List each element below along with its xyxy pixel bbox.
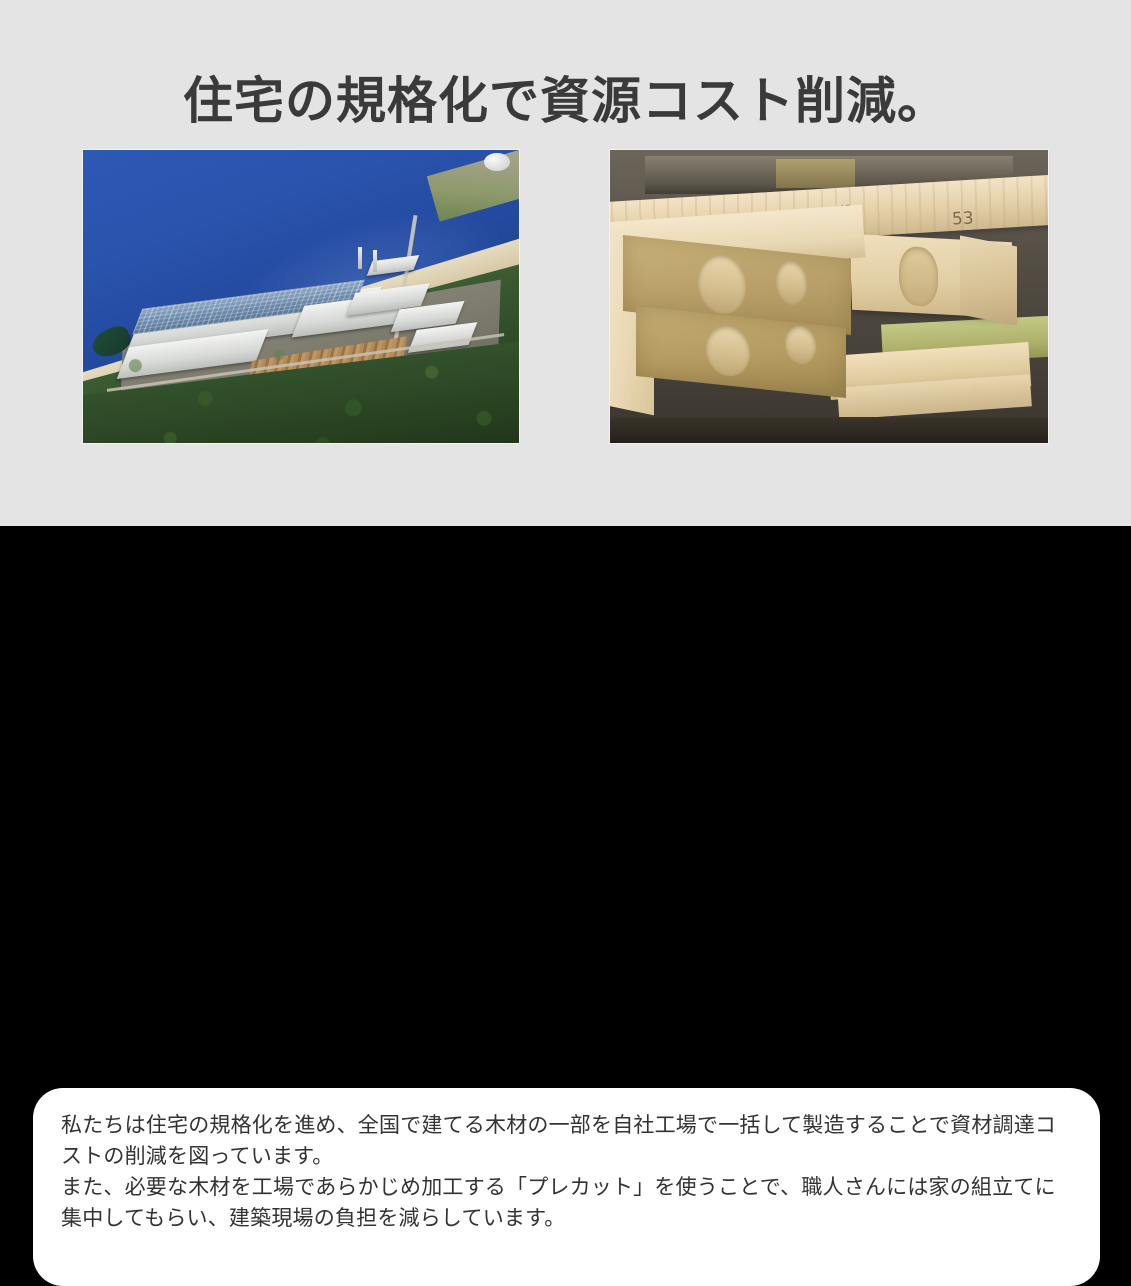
aerial-factory-photo-content <box>83 150 519 443</box>
bottom-black-band: 私たちは住宅の規格化を進め、全国で建てる木材の一部を自社工場で一括して製造するこ… <box>0 526 1131 800</box>
storage-tank <box>484 153 510 171</box>
workshop-floor <box>610 417 1048 443</box>
precut-timber-photo: 43 53 <box>610 150 1048 443</box>
precut-timber-photo-content: 43 53 <box>610 150 1048 443</box>
silo-1 <box>358 247 362 269</box>
page-title: 住宅の規格化で資源コスト削減。 <box>0 70 1131 132</box>
timber-marking-large: 53 <box>951 208 974 229</box>
forest-canopy-texture <box>83 326 519 443</box>
workshop-machinery-detail <box>776 159 855 188</box>
description-paragraph-1: 私たちは住宅の規格化を進め、全国で建てる木材の一部を自社工場で一括して製造するこ… <box>61 1110 1072 1172</box>
silo-2 <box>373 250 377 272</box>
description-paragraph-2: また、必要な木材を工場であらかじめ加工する「プレカット」を使うことで、職人さんに… <box>61 1172 1072 1234</box>
aerial-factory-photo <box>83 150 519 443</box>
description-card: 私たちは住宅の規格化を進め、全国で建てる木材の一部を自社工場で一括して製造するこ… <box>33 1088 1100 1286</box>
top-content-panel: 住宅の規格化で資源コスト削減。 <box>0 0 1131 526</box>
right-timber-beam-end <box>960 235 1017 325</box>
